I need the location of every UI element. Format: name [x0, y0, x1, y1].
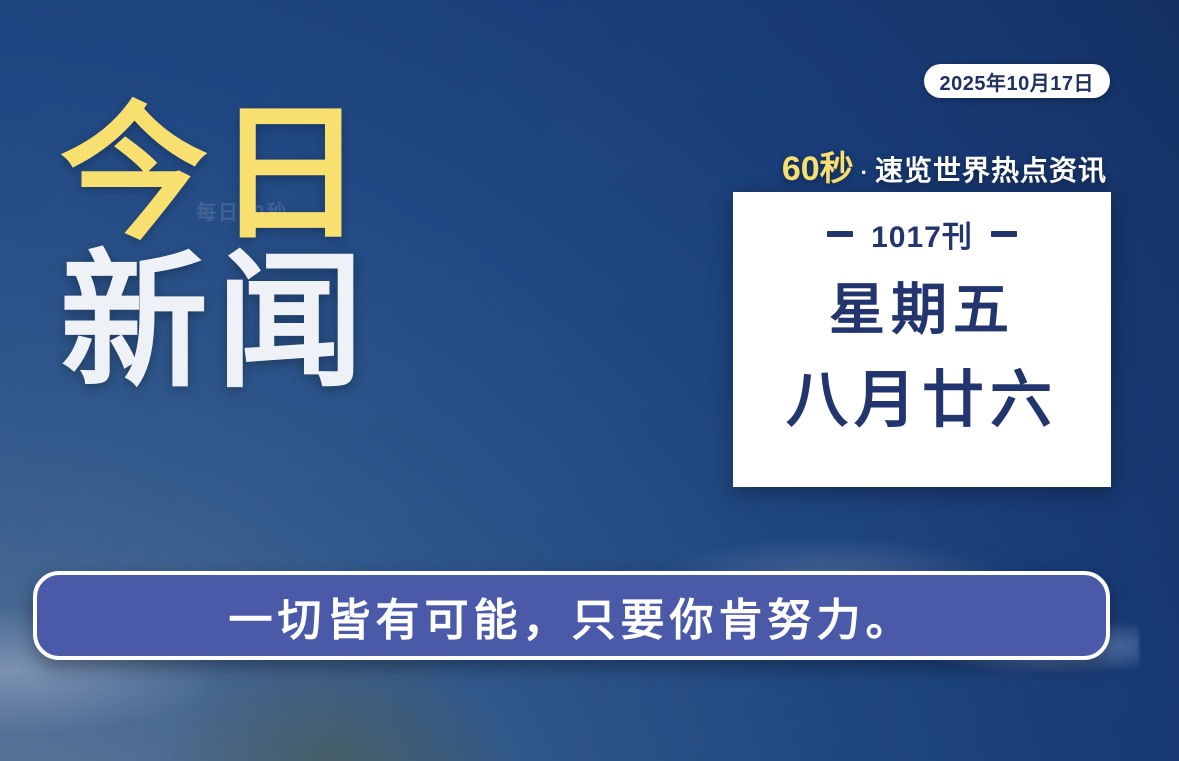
date-badge: 2025年10月17日: [924, 64, 1110, 98]
quote-text: 一切皆有可能，只要你肯努力。: [229, 584, 915, 648]
page-title-line-1: 今日: [60, 104, 480, 246]
issue-row: 1017刊: [827, 212, 1017, 256]
quote-banner: 一切皆有可能，只要你肯努力。: [33, 571, 1110, 660]
issue-info-card: 1017刊 星期五 八月廿六: [733, 192, 1111, 487]
tagline: 60秒 · 速览世界热点资讯: [782, 141, 1107, 190]
tagline-separator: ·: [859, 160, 870, 186]
issue-number: 1017刊: [871, 212, 973, 256]
page-title-line-2: 新闻: [60, 252, 480, 394]
tagline-seconds: 60秒: [782, 141, 854, 190]
dash-right-icon: [991, 231, 1017, 237]
lunar-date-label: 八月廿六: [786, 370, 1058, 432]
poster-title: 今日 新闻: [60, 104, 480, 394]
tagline-text: 速览世界热点资讯: [875, 149, 1107, 189]
dash-left-icon: [827, 231, 853, 237]
news-poster: 每日60秒 今日 新闻 2025年10月17日 60秒 · 速览世界热点资讯 1…: [0, 0, 1179, 761]
weekday-label: 星期五: [829, 282, 1015, 338]
